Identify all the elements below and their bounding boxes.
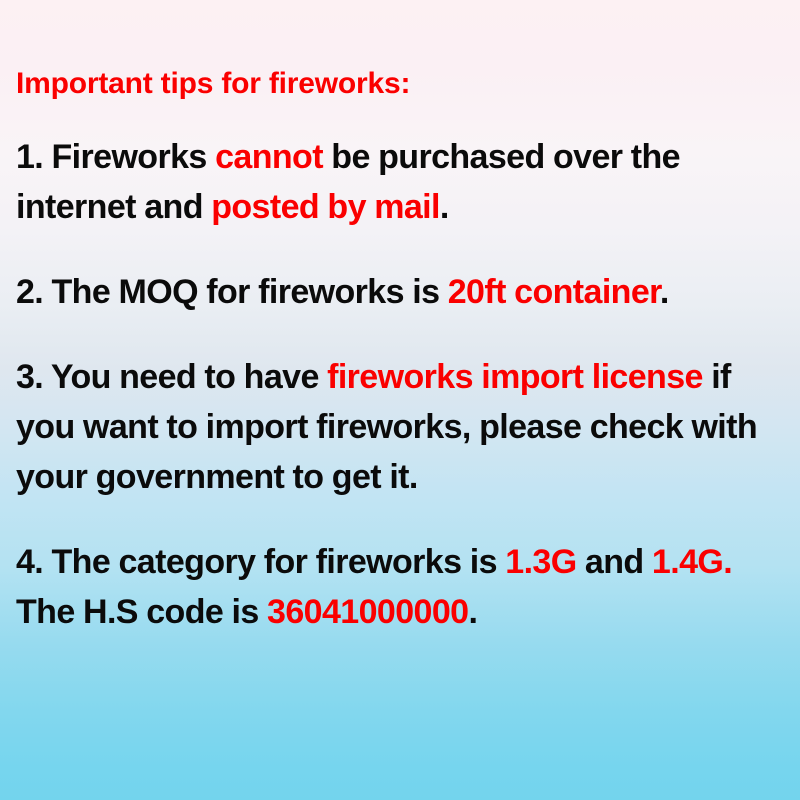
tip-number: 4.	[16, 543, 43, 581]
tip-highlight-text: 1.3G	[505, 543, 576, 581]
tip-item: 3. You need to have fireworks import lic…	[16, 352, 788, 502]
page-title: Important tips for fireworks:	[16, 62, 788, 106]
tips-list: 1. Fireworks cannot be purchased over th…	[16, 132, 788, 637]
tip-text: Fireworks	[43, 138, 215, 176]
tip-text: The H.S code is	[16, 593, 267, 631]
tip-item: 1. Fireworks cannot be purchased over th…	[16, 132, 788, 232]
tip-text: .	[440, 188, 449, 226]
tip-item: 4. The category for fireworks is 1.3G an…	[16, 537, 788, 637]
tip-highlight-text: 36041000000	[267, 593, 468, 631]
tip-number: 2.	[16, 273, 43, 311]
fireworks-tips-poster: Important tips for fireworks: 1. Firewor…	[0, 0, 800, 800]
tip-number: 1.	[16, 138, 43, 176]
tip-highlight-text: posted by mail	[211, 188, 440, 226]
tip-text: .	[468, 593, 477, 631]
tip-highlight-text: 1.4G.	[652, 543, 732, 581]
tip-text: You need to have	[43, 358, 327, 396]
tip-number: 3.	[16, 358, 43, 396]
tip-highlight-text: fireworks import license	[327, 358, 703, 396]
tip-text: The MOQ for fireworks is	[43, 273, 448, 311]
poster-content: Important tips for fireworks: 1. Firewor…	[16, 62, 788, 637]
tip-highlight-text: cannot	[215, 138, 323, 176]
tip-text: .	[660, 273, 669, 311]
tip-text: The category for fireworks is	[43, 543, 505, 581]
tip-text: and	[577, 543, 652, 581]
tip-item: 2. The MOQ for fireworks is 20ft contain…	[16, 267, 788, 317]
tip-highlight-text: 20ft container	[448, 273, 660, 311]
